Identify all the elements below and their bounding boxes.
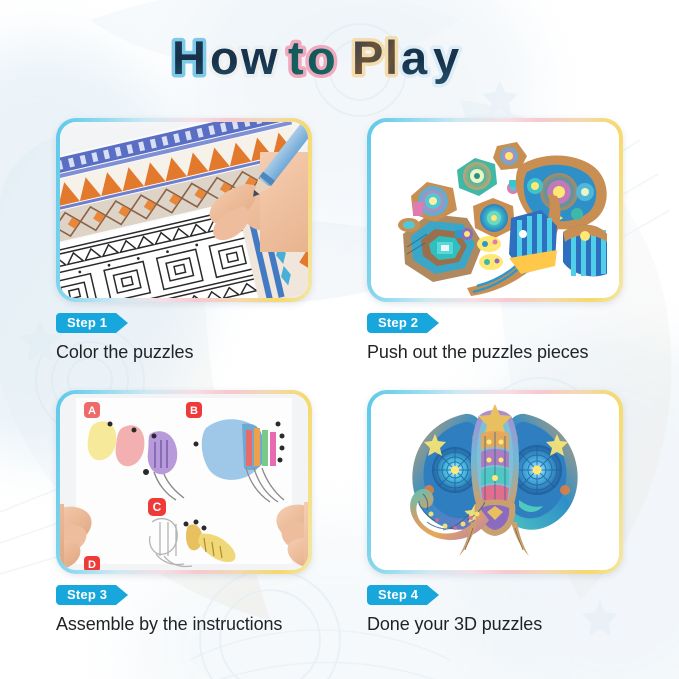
step-2-badge-row: Step 2 — [367, 313, 623, 333]
step-2-badge: Step 2 — [367, 313, 427, 333]
finished-elephant-photo — [371, 394, 619, 570]
page-title-art: H o w t o P l a y — [170, 28, 510, 90]
steps-grid: Step 1 Color the puzzles — [56, 118, 623, 635]
step-block-3: A — [56, 390, 312, 635]
page-title: H o w t o P l a y How to Play — [0, 28, 679, 94]
instruction-section-d: D — [84, 556, 100, 570]
step-2-caption: Push out the puzzles pieces — [367, 342, 623, 363]
puzzle-piece-striped-center — [509, 210, 557, 274]
step-block-1: Step 1 Color the puzzles — [56, 118, 312, 363]
step-3-card: A — [56, 390, 312, 574]
step-4-badge-row: Step 4 — [367, 585, 623, 605]
svg-text:D: D — [88, 559, 96, 570]
step-4-card — [367, 390, 623, 574]
step-1-card — [56, 118, 312, 302]
title-letter-y: y — [433, 31, 459, 84]
puzzle-piece-striped-right — [563, 225, 607, 277]
svg-text:B: B — [190, 405, 198, 417]
title-letter-w: w — [240, 31, 278, 84]
title-letter-a: a — [401, 31, 428, 84]
title-letter-t: t — [288, 31, 304, 84]
svg-text:A: A — [88, 405, 96, 417]
step-2-card — [367, 118, 623, 302]
step-3-caption: Assemble by the instructions — [56, 614, 312, 635]
puzzle-piece-small-oval — [398, 218, 420, 232]
step-1-badge: Step 1 — [56, 313, 116, 333]
title-letter-o2: o — [307, 31, 336, 84]
title-letter-o1: o — [210, 31, 239, 84]
step-3-badge: Step 3 — [56, 585, 116, 605]
punched-out-pieces-photo — [371, 122, 619, 298]
title-letter-l: l — [385, 31, 398, 84]
svg-text:C: C — [153, 500, 162, 514]
title-letter-P: P — [352, 31, 383, 84]
step-4-caption: Done your 3D puzzles — [367, 614, 623, 635]
instruction-sheet-photo: A — [60, 394, 308, 570]
coloring-puzzle-photo — [60, 122, 308, 298]
step-block-4: Step 4 Done your 3D puzzles — [367, 390, 623, 635]
step-block-2: Step 2 Push out the puzzles pieces — [367, 118, 623, 363]
step-1-caption: Color the puzzles — [56, 342, 312, 363]
step-4-badge: Step 4 — [367, 585, 427, 605]
title-letter-H: H — [172, 31, 206, 84]
step-1-badge-row: Step 1 — [56, 313, 312, 333]
step-3-badge-row: Step 3 — [56, 585, 312, 605]
